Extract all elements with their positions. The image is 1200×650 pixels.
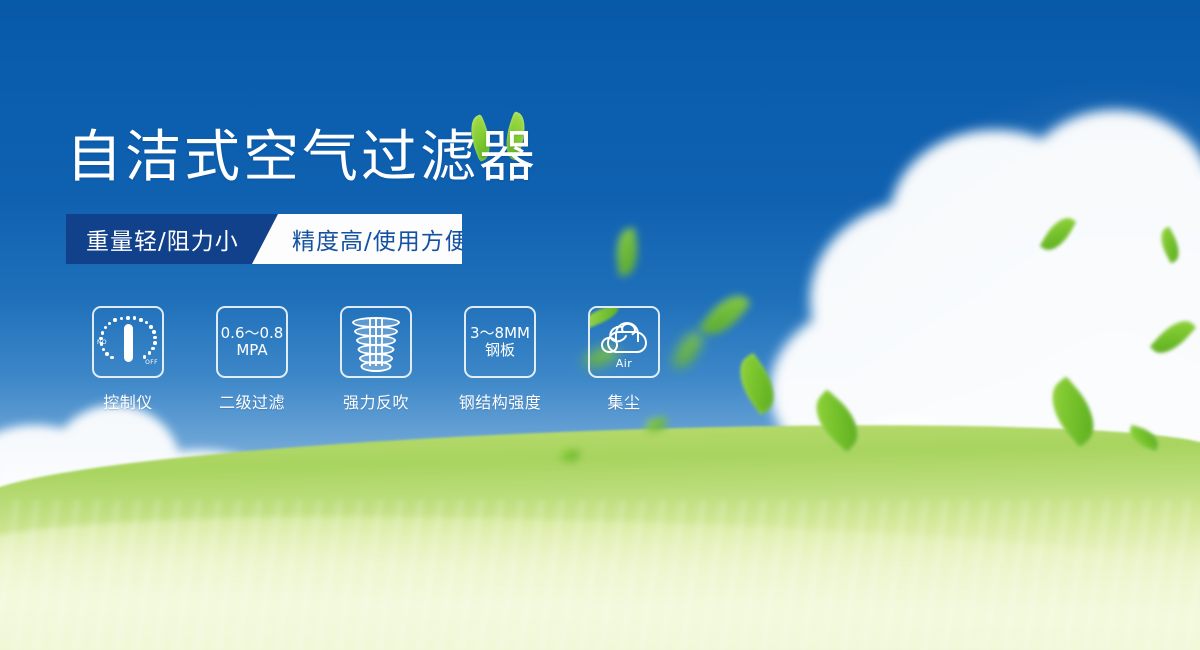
page-title: 自洁式空气过滤器: [66, 130, 686, 186]
feature-label: 钢结构强度: [459, 389, 542, 413]
feature-icon-box: [340, 306, 412, 378]
feature-icon-box: 0.6～0.8 MPA: [216, 306, 288, 378]
steel-material: 钢板: [470, 342, 530, 359]
pressure-value: 0.6～0.8: [221, 324, 284, 342]
subtitle-bar: 重量轻/阻力小 精度高/使用方便: [66, 214, 462, 264]
feature-label: 控制仪: [103, 389, 153, 413]
feature-label: 集尘: [607, 389, 640, 413]
subtitle-segment-right: 精度高/使用方便: [252, 214, 462, 264]
feature-label: 二级过滤: [219, 389, 285, 413]
feature-label: 强力反吹: [343, 389, 409, 413]
feature-item-steel-strength[interactable]: 3～8MM 钢板 钢结构强度: [438, 306, 562, 413]
pressure-text-icon: 0.6～0.8 MPA: [221, 325, 284, 360]
pressure-unit: MPA: [221, 342, 284, 359]
gauge-needle-icon: [124, 324, 133, 362]
gauge-label-no: NO: [97, 339, 107, 346]
steel-thickness: 3～8MM: [470, 324, 530, 342]
cloud-air-icon: Air: [595, 315, 653, 369]
feature-item-dust-collection[interactable]: Air 集尘: [562, 306, 686, 413]
gauge-label-off: OFF: [145, 359, 158, 366]
subtitle-left-text: 重量轻/阻力小: [86, 222, 239, 256]
spring-coil-icon: [353, 315, 399, 369]
steel-plate-text-icon: 3～8MM 钢板: [470, 325, 530, 360]
hero-banner: 自洁式空气过滤器 重量轻/阻力小 精度高/使用方便: [0, 0, 1200, 650]
gauge-dial-icon: NO OFF: [97, 314, 159, 370]
feature-item-blowback[interactable]: 强力反吹: [314, 306, 438, 413]
feature-item-secondary-filter[interactable]: 0.6～0.8 MPA 二级过滤: [190, 306, 314, 413]
feature-icon-box: Air: [588, 306, 660, 378]
subtitle-right-text: 精度高/使用方便: [292, 222, 469, 256]
feature-item-controller[interactable]: NO OFF 控制仪: [66, 306, 190, 413]
air-label: Air: [595, 357, 653, 370]
feature-icon-box: NO OFF: [92, 306, 164, 378]
banner-content: 自洁式空气过滤器 重量轻/阻力小 精度高/使用方便: [66, 130, 686, 413]
feature-list: NO OFF 控制仪 0.6～0.8 MPA 二级过滤: [66, 306, 686, 413]
feature-icon-box: 3～8MM 钢板: [464, 306, 536, 378]
grass-texture: [0, 500, 1200, 650]
